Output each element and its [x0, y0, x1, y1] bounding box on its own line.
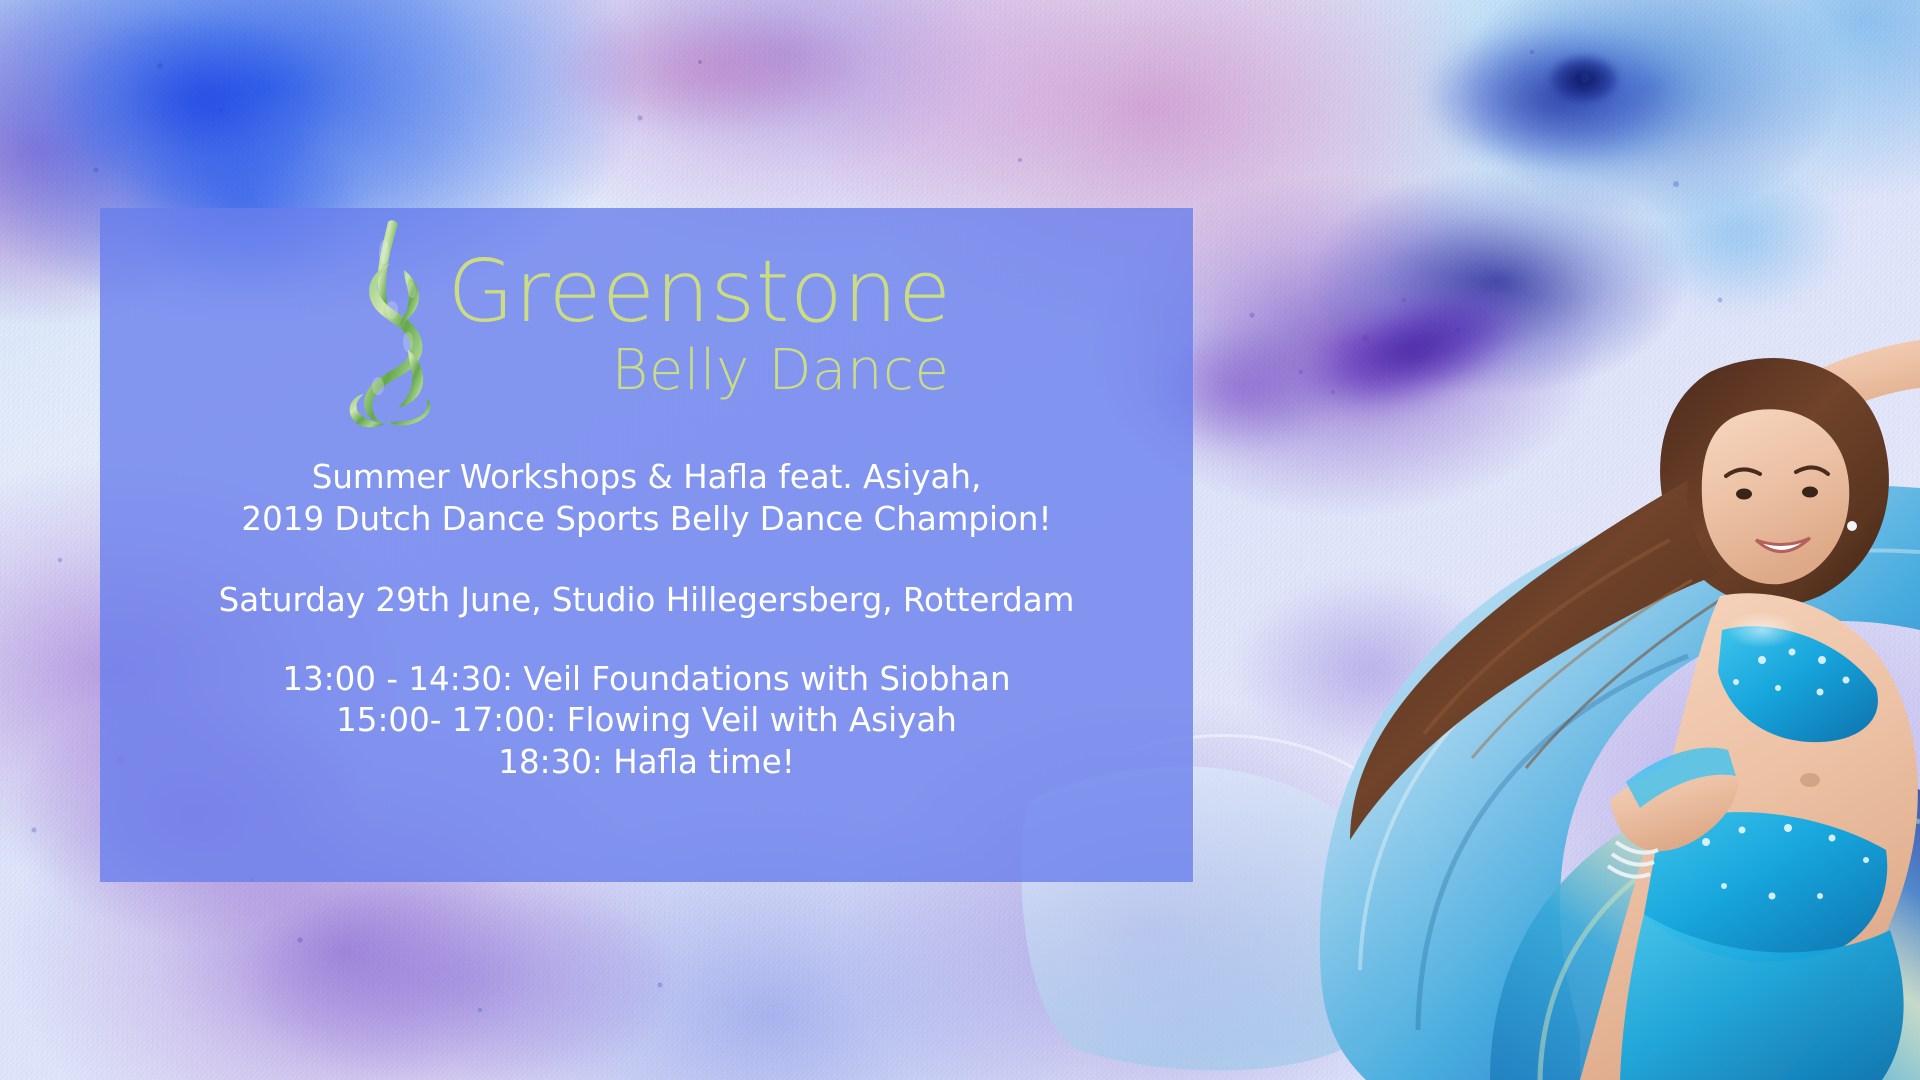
dancer-eye-right [1802, 487, 1818, 498]
green-ribbon-veil-icon [342, 218, 434, 430]
copy-spacer-2 [100, 621, 1193, 659]
copy-spacer-1 [100, 541, 1193, 579]
dancer-eye-left [1736, 489, 1752, 500]
brand-logo: Greenstone Belly Dance [100, 214, 1193, 434]
schedule-item: 18:30: Hafla time! [100, 742, 1193, 784]
ink-bloom-blue-topleft [60, 20, 320, 200]
headline-line-1: Summer Workshops & Hafla feat. Asiyah, [100, 456, 1193, 498]
dancer-earring [1847, 521, 1857, 531]
necklace-glow [1726, 612, 1798, 648]
ink-bloom-pink-top [560, 10, 860, 130]
headline-block: Summer Workshops & Hafla feat. Asiyah, 2… [100, 456, 1193, 541]
schedule-block: 13:00 - 14:30: Veil Foundations with Sio… [100, 659, 1193, 784]
logo-title: Greenstone [448, 249, 952, 335]
datetime-line: Saturday 29th June, Studio Hillegersberg… [100, 579, 1193, 621]
datetime-block: Saturday 29th June, Studio Hillegersberg… [100, 579, 1193, 621]
ink-bloom-navy-ring [1430, 20, 1700, 170]
dancer-navel [1800, 773, 1820, 787]
poster-copy: Summer Workshops & Hafla feat. Asiyah, 2… [100, 456, 1193, 784]
content-panel: Greenstone Belly Dance Summer Workshops … [100, 208, 1193, 882]
schedule-item: 13:00 - 14:30: Veil Foundations with Sio… [100, 659, 1193, 701]
promotional-poster: belly dancer with flowing blue veil [0, 0, 1920, 1080]
ink-bloom-purple-bottom [250, 880, 670, 1080]
schedule-item: 15:00- 17:00: Flowing Veil with Asiyah [100, 700, 1193, 742]
ink-bloom-navy-core [1550, 56, 1618, 102]
headline-line-2: 2019 Dutch Dance Sports Belly Dance Cham… [100, 498, 1193, 540]
logo-subtitle: Belly Dance [612, 343, 950, 399]
ink-bloom-cyan-topright [1640, 160, 1840, 310]
panel-right-edge [1193, 208, 1194, 882]
